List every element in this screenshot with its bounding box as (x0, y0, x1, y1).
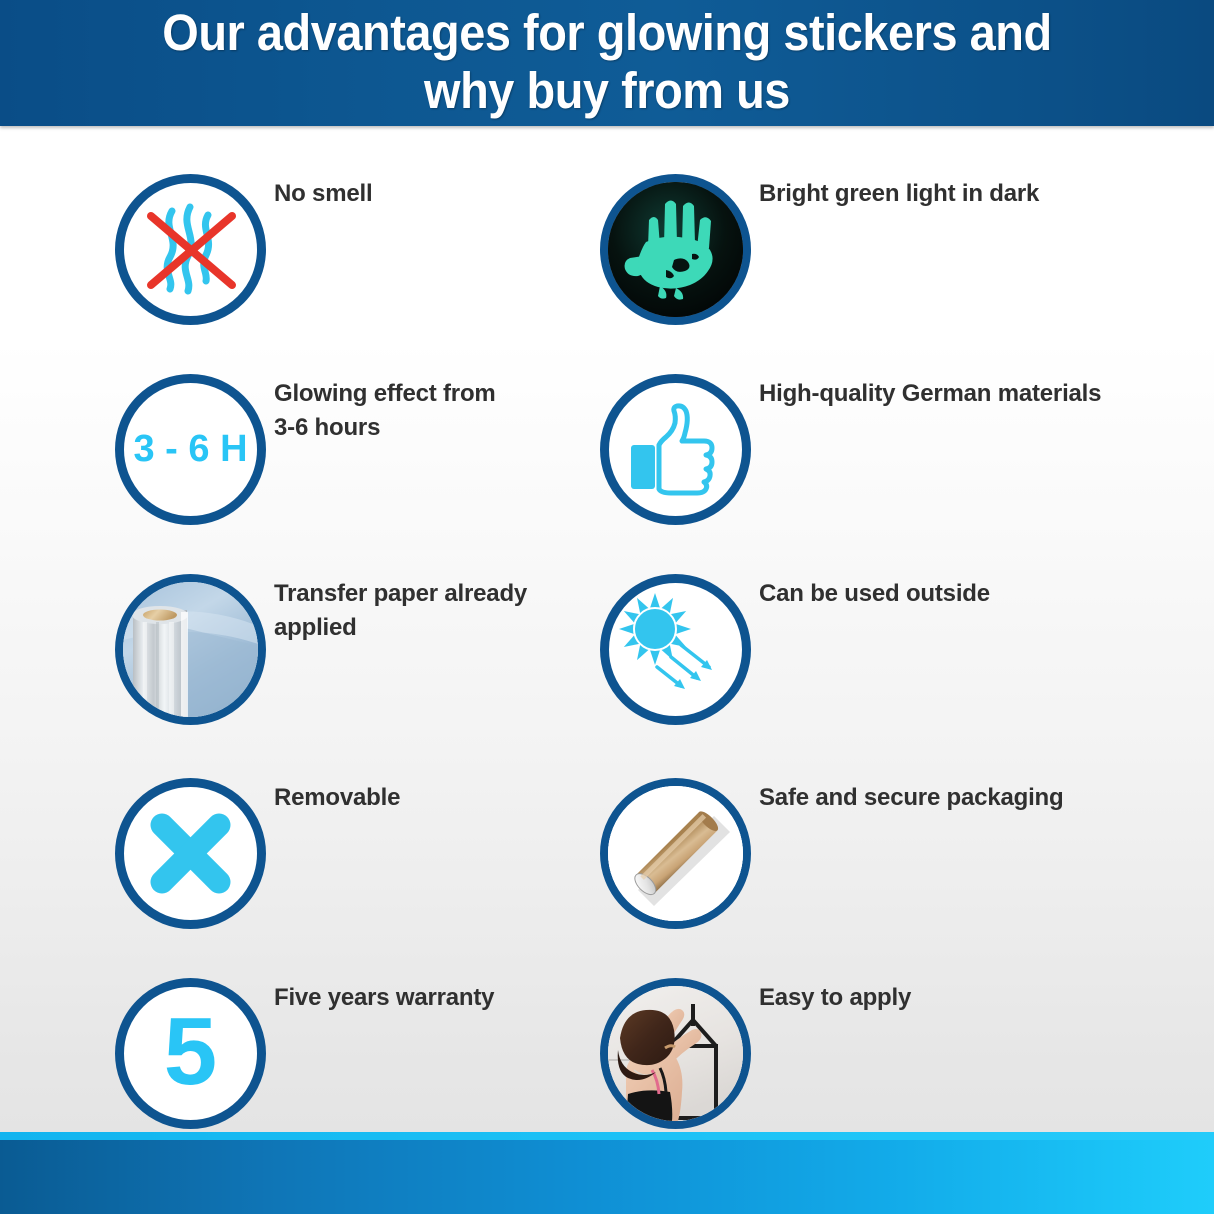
no-smell-svg (124, 183, 257, 316)
mailing-tube-icon (600, 778, 751, 929)
sun-rays-svg (609, 583, 742, 716)
woman-applying-decal-svg (608, 986, 743, 1121)
no-smell-icon (115, 174, 266, 325)
woman-applying-decal-icon (600, 978, 751, 1129)
infographic-page: Our advantages for glowing stickers and … (0, 0, 1214, 1214)
thumbs-up-icon (600, 374, 751, 525)
feature-label: Easy to apply (759, 981, 1159, 1015)
transfer-paper-roll-svg (123, 582, 258, 717)
hours-3-6-icon: 3 - 6 H (115, 374, 266, 525)
feature-item-no-smell: No smell (108, 167, 628, 367)
glowing-handprint-icon (600, 174, 751, 325)
feature-item-removable: Removable (108, 771, 628, 971)
feature-label: Can be used outside (759, 577, 1159, 611)
feature-item-secure-packaging: Safe and secure packaging (593, 771, 1113, 971)
number-five-label: 5 (124, 987, 257, 1120)
feature-item-german-materials: High-quality German materials (593, 367, 1113, 567)
transfer-paper-roll-icon (115, 574, 266, 725)
hours-3-6-label: 3 - 6 H (124, 383, 257, 516)
feature-grid: No smell (0, 126, 1214, 1140)
footer-accent-strip (0, 1132, 1214, 1140)
page-title: Our advantages for glowing stickers and … (49, 4, 1166, 120)
handprint-svg (608, 182, 743, 317)
feature-label: High-quality German materials (759, 377, 1159, 411)
thumbs-up-svg (609, 383, 742, 516)
feature-item-glowing-effect-hours: 3 - 6 H Glowing effect from 3-6 hours (108, 367, 628, 567)
number-five-icon: 5 (115, 978, 266, 1129)
header-banner: Our advantages for glowing stickers and … (0, 0, 1214, 126)
sun-with-rays-icon (600, 574, 751, 725)
feature-item-bright-green-light: Bright green light in dark (593, 167, 1113, 367)
feature-label: Bright green light in dark (759, 177, 1159, 211)
feature-item-transfer-paper: Transfer paper already applied (108, 567, 628, 767)
feature-label: Safe and secure packaging (759, 781, 1159, 815)
feature-item-used-outside: Can be used outside (593, 567, 1113, 767)
cross-x-icon (115, 778, 266, 929)
footer-banner (0, 1140, 1214, 1214)
mailing-tube-svg (608, 786, 743, 921)
cross-x-svg (124, 787, 257, 920)
